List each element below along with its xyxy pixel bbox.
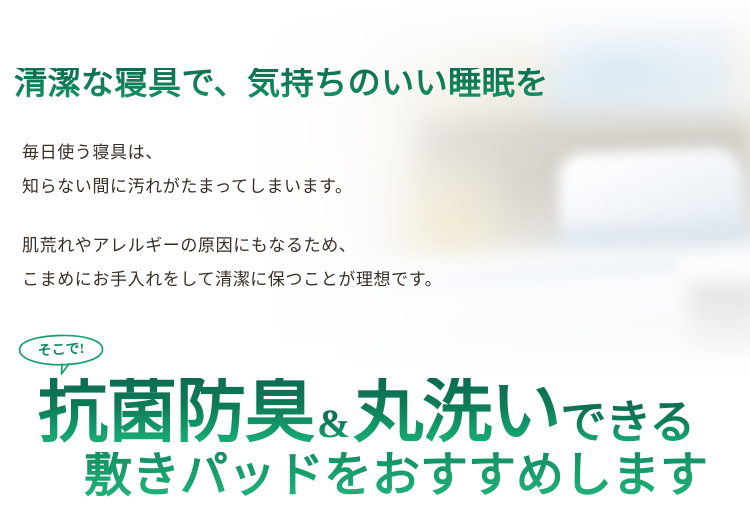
- callout-speech-bubble: そこで!: [17, 333, 105, 375]
- main-headline-ampersand: &: [314, 404, 353, 448]
- body-line: こまめにお手入れをして清潔に保つことが理想です。: [22, 263, 442, 297]
- body-line: 肌荒れやアレルギーの原因にもなるため、: [22, 229, 442, 263]
- main-headline-segment-2: 丸洗い: [353, 378, 560, 448]
- main-headline-segment-1: 抗菌防臭: [38, 378, 314, 448]
- body-paragraph-1: 毎日使う寝具は、 知らない間に汚れがたまってしまいます。: [22, 136, 442, 204]
- promo-banner: 清潔な寝具で、気持ちのいい睡眠を 毎日使う寝具は、 知らない間に汚れがたまってし…: [0, 0, 750, 515]
- body-paragraph-2: 肌荒れやアレルギーの原因にもなるため、 こまめにお手入れをして清潔に保つことが理…: [22, 229, 442, 297]
- body-line: 毎日使う寝具は、: [22, 136, 442, 170]
- content-layer: 清潔な寝具で、気持ちのいい睡眠を 毎日使う寝具は、 知らない間に汚れがたまってし…: [0, 0, 750, 515]
- page-title: 清潔な寝具で、気持ちのいい睡眠を: [14, 68, 549, 101]
- body-copy: 毎日使う寝具は、 知らない間に汚れがたまってしまいます。 肌荒れやアレルギーの原…: [22, 136, 442, 297]
- main-headline-line-1: 抗菌防臭 & 丸洗い できる: [38, 378, 694, 448]
- main-headline-line-2: 敷きパッドをおすすめします: [84, 452, 708, 500]
- body-line: 知らない間に汚れがたまってしまいます。: [22, 170, 442, 204]
- main-headline-segment-3: できる: [560, 400, 694, 448]
